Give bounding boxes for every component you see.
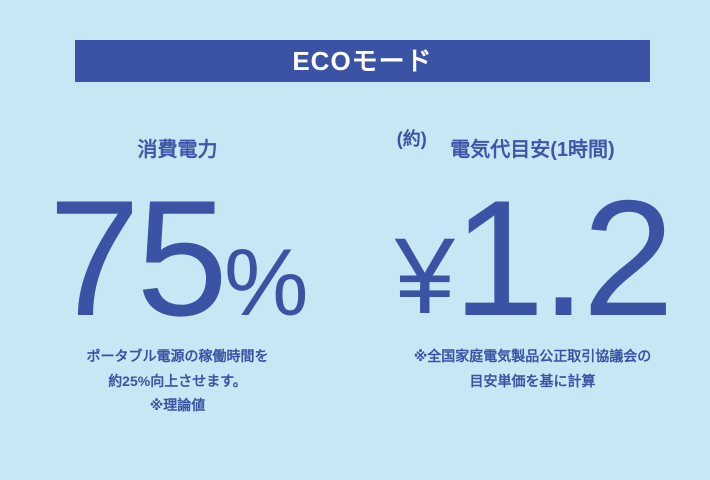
stat-value-power-consumption: 75: [48, 188, 224, 328]
caption-line: 約25%向上させます。: [87, 369, 269, 394]
stat-figure-electricity-cost: (約) ¥ 1.2: [395, 178, 670, 328]
stat-value-electricity-cost: 1.2: [453, 188, 670, 328]
banner-title: ECOモード: [292, 48, 432, 74]
stat-caption-electricity-cost: ※全国家庭電気製品公正取引協議会の 目安単価を基に計算: [414, 344, 652, 393]
eco-mode-banner: ECOモード: [75, 40, 650, 82]
approx-label: (約): [397, 130, 427, 148]
stats-columns: 消費電力 75 % ポータブル電源の稼働時間を 約25%向上させます。 ※理論値…: [0, 140, 710, 418]
eco-mode-infographic: ECOモード 消費電力 75 % ポータブル電源の稼働時間を 約25%向上させま…: [0, 0, 710, 480]
stat-caption-power-consumption: ポータブル電源の稼働時間を 約25%向上させます。 ※理論値: [87, 344, 269, 418]
stat-heading-electricity-cost: 電気代目安(1時間): [450, 140, 614, 160]
price-group: (約) ¥ 1.2: [395, 188, 670, 328]
stat-heading-power-consumption: 消費電力: [138, 140, 218, 160]
caption-line: 目安単価を基に計算: [414, 369, 652, 394]
stat-figure-power-consumption: 75 %: [48, 178, 306, 328]
stat-column-power-consumption: 消費電力 75 % ポータブル電源の稼働時間を 約25%向上させます。 ※理論値: [0, 140, 355, 418]
percent-sign: %: [224, 243, 306, 324]
stat-column-electricity-cost: 電気代目安(1時間) (約) ¥ 1.2 ※全国家庭電気製品公正取引協議会の 目…: [355, 140, 710, 418]
caption-line: ※理論値: [87, 393, 269, 418]
yen-currency-icon: ¥: [395, 230, 453, 322]
